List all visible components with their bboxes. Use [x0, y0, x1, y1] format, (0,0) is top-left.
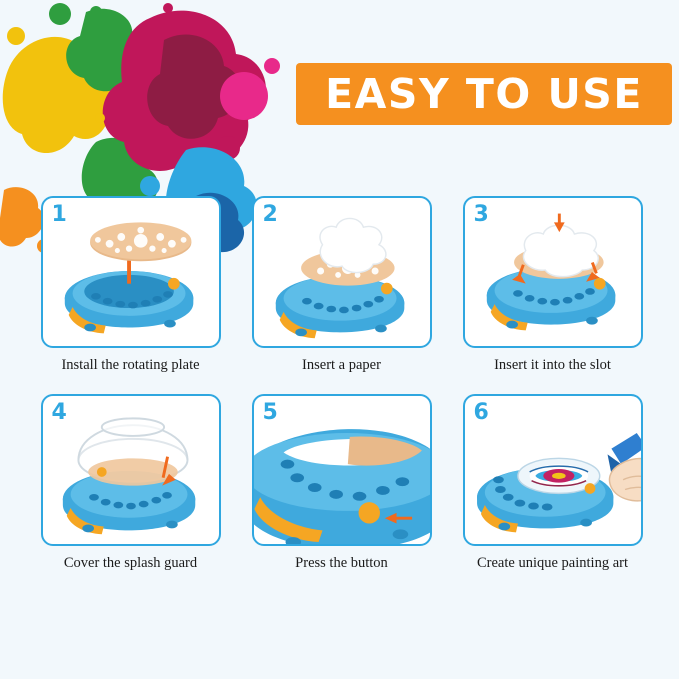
step-number-5: 5 — [263, 400, 278, 425]
step-cell-3: 3 — [456, 196, 649, 374]
step-cell-2: 2 — [245, 196, 438, 374]
step-caption-5: Press the button — [295, 555, 388, 572]
step-caption-6: Create unique painting art — [477, 555, 628, 572]
step-number-1: 1 — [52, 202, 67, 227]
steps-grid: 1 — [34, 196, 649, 572]
step-card-2: 2 — [252, 196, 432, 348]
rotating-plate-device-icon — [43, 198, 219, 346]
step-number-4: 4 — [52, 400, 67, 425]
step-caption-1: Install the rotating plate — [61, 357, 199, 374]
step-number-3: 3 — [474, 202, 489, 227]
step-number-6: 6 — [474, 400, 489, 425]
slot-insert-device-icon — [465, 198, 641, 346]
header-banner: EASY TO USE — [296, 63, 672, 125]
paper-insert-device-icon — [254, 198, 430, 346]
step-caption-4: Cover the splash guard — [64, 555, 197, 572]
step-card-6: 6 — [463, 394, 643, 546]
step-cell-1: 1 — [34, 196, 227, 374]
splash-guard-device-icon — [43, 396, 219, 544]
step-card-1: 1 — [41, 196, 221, 348]
press-button-device-icon — [254, 396, 430, 544]
painting-art-device-icon — [465, 396, 641, 544]
step-caption-3: Insert it into the slot — [494, 357, 611, 374]
step-cell-4: 4 — [34, 394, 227, 572]
step-number-2: 2 — [263, 202, 278, 227]
step-card-3: 3 — [463, 196, 643, 348]
step-card-4: 4 — [41, 394, 221, 546]
step-card-5: 5 — [252, 394, 432, 546]
step-cell-5: 5 — [245, 394, 438, 572]
step-caption-2: Insert a paper — [302, 357, 381, 374]
banner-title: EASY TO USE — [325, 70, 643, 118]
hand-with-marker-icon — [607, 433, 640, 501]
step-cell-6: 6 — [456, 394, 649, 572]
